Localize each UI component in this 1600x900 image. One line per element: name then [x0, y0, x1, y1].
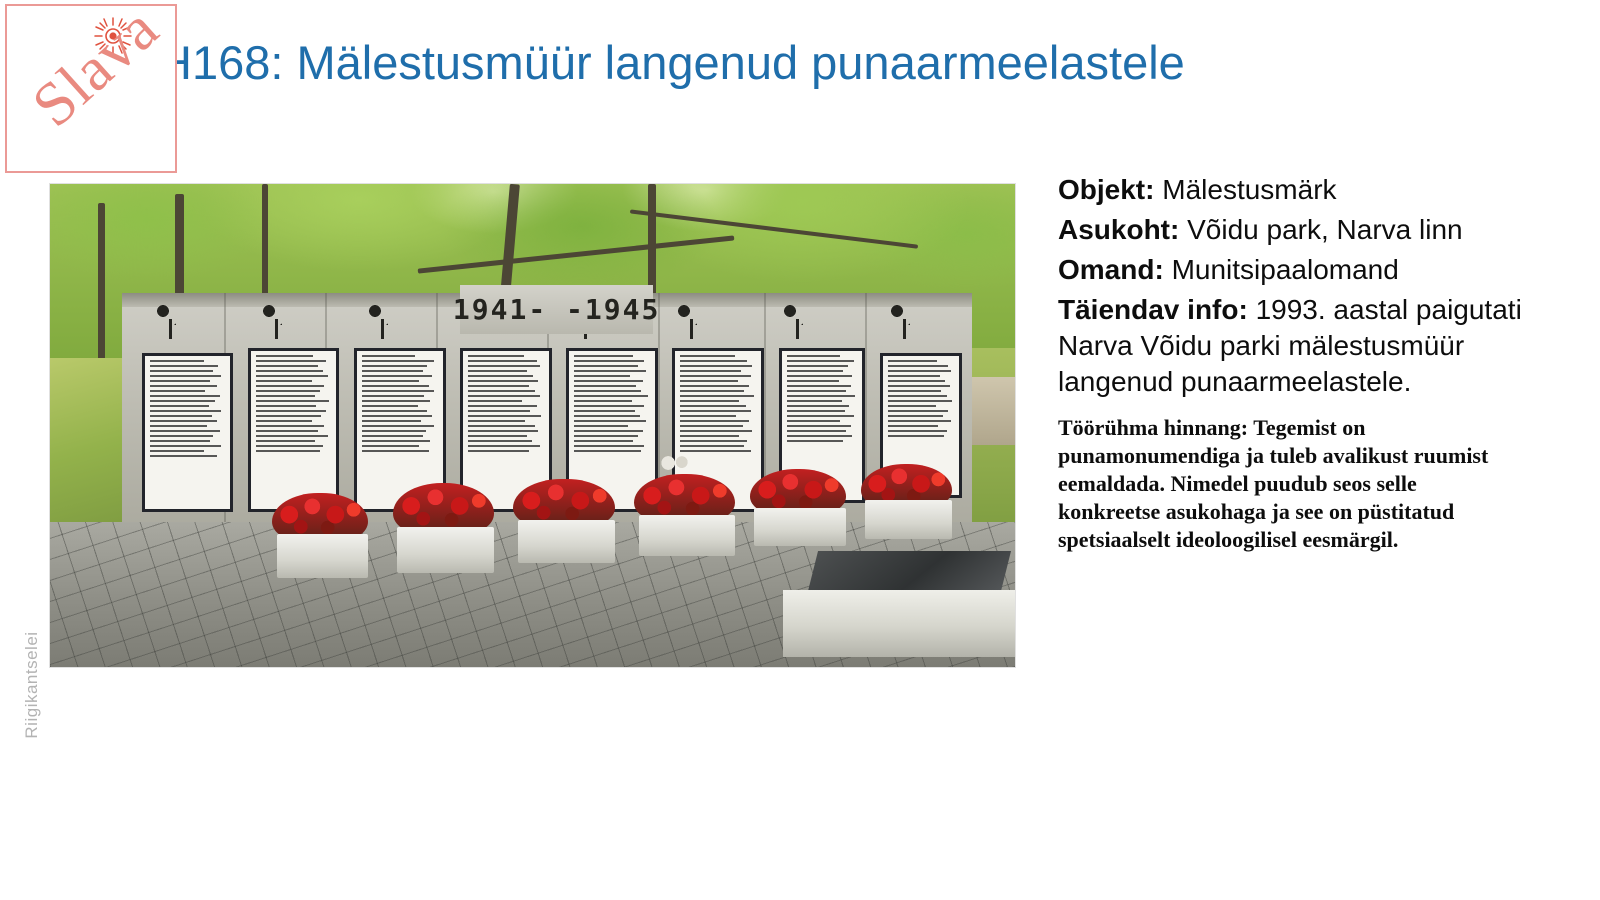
- info-row-omand: Omand: Munitsipaalomand: [1058, 252, 1528, 288]
- info-row-asukoht: Asukoht: Võidu park, Narva linn: [1058, 212, 1528, 248]
- slava-watermark: Slava: [5, 4, 177, 157]
- year-inscription: 1941- -1945: [460, 285, 653, 333]
- info-value-asukoht: Võidu park, Narva linn: [1187, 214, 1462, 245]
- planter: [639, 515, 736, 556]
- info-label-taiendav-info: Täiendav info:: [1058, 294, 1248, 325]
- floral-emblem: [677, 305, 705, 339]
- bouquet: [658, 454, 692, 472]
- granite-slab-base: [783, 590, 1015, 658]
- info-row-taiendav-info: Täiendav info: 1993. aastal paigutati Na…: [1058, 292, 1528, 400]
- planter: [754, 508, 846, 547]
- name-plaque: [142, 353, 234, 512]
- planter: [865, 500, 952, 539]
- info-label-objekt: Objekt:: [1058, 174, 1154, 205]
- info-row-objekt: Objekt: Mälestusmärk: [1058, 172, 1528, 208]
- memorial-photo: 1941- -1945: [50, 184, 1015, 667]
- planter: [518, 520, 615, 563]
- info-panel: Objekt: Mälestusmärk Asukoht: Võidu park…: [1058, 172, 1528, 554]
- planter: [397, 527, 494, 573]
- working-group-assessment: Töörühma hinnang: Tegemist on punamonume…: [1058, 414, 1520, 554]
- info-label-omand: Omand:: [1058, 254, 1164, 285]
- floral-emblem: [156, 305, 184, 339]
- info-label-asukoht: Asukoht:: [1058, 214, 1179, 245]
- info-value-objekt: Mälestusmärk: [1162, 174, 1336, 205]
- logo-box: Slava: [5, 4, 177, 173]
- sun-icon: [93, 16, 133, 56]
- planter: [277, 534, 369, 577]
- page-title: RKTH168: Mälestusmüür langenud punaarmee…: [64, 34, 1544, 92]
- floral-emblem: [262, 305, 290, 339]
- floral-emblem: [890, 305, 918, 339]
- info-value-omand: Munitsipaalomand: [1172, 254, 1399, 285]
- organisation-side-label: Riigikantselei: [22, 595, 42, 775]
- name-plaque: [248, 348, 340, 512]
- floral-emblem: [368, 305, 396, 339]
- floral-emblem: [783, 305, 811, 339]
